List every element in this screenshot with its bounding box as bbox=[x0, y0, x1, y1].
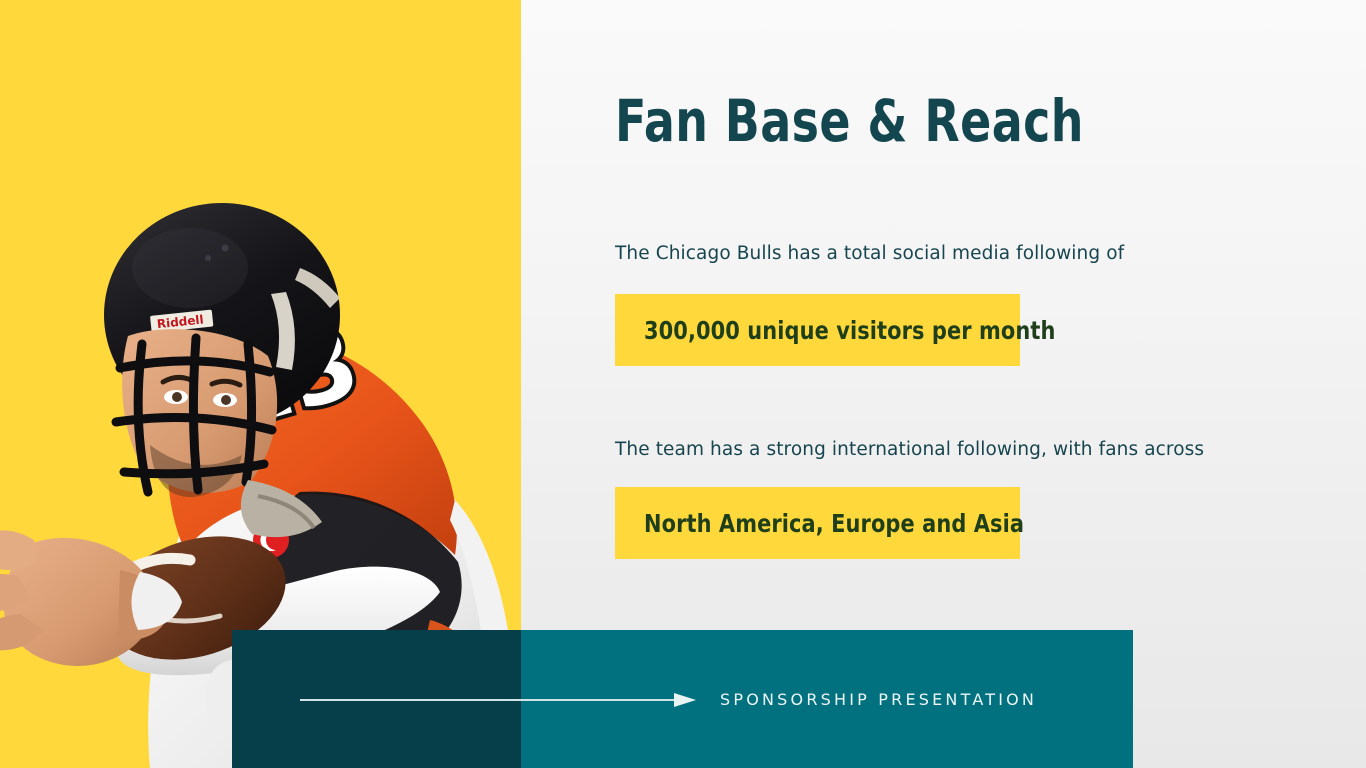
highlight-box-regions: North America, Europe and Asia bbox=[615, 487, 1020, 559]
highlight-box-visitors: 300,000 unique visitors per month bbox=[615, 294, 1020, 366]
footer-band: SPONSORSHIP PRESENTATION bbox=[232, 630, 1133, 768]
paragraph-international-following: The team has a strong international foll… bbox=[615, 439, 1204, 460]
arrow-right-icon bbox=[300, 692, 696, 708]
paragraph-social-following: The Chicago Bulls has a total social med… bbox=[615, 243, 1124, 264]
highlight-regions-text: North America, Europe and Asia bbox=[644, 509, 1024, 538]
presentation-slide: 23 3 Riddell bbox=[0, 0, 1366, 768]
highlight-visitors-text: 300,000 unique visitors per month bbox=[644, 316, 1055, 345]
page-title: Fan Base & Reach bbox=[615, 92, 1084, 150]
footer-label: SPONSORSHIP PRESENTATION bbox=[720, 690, 1037, 709]
